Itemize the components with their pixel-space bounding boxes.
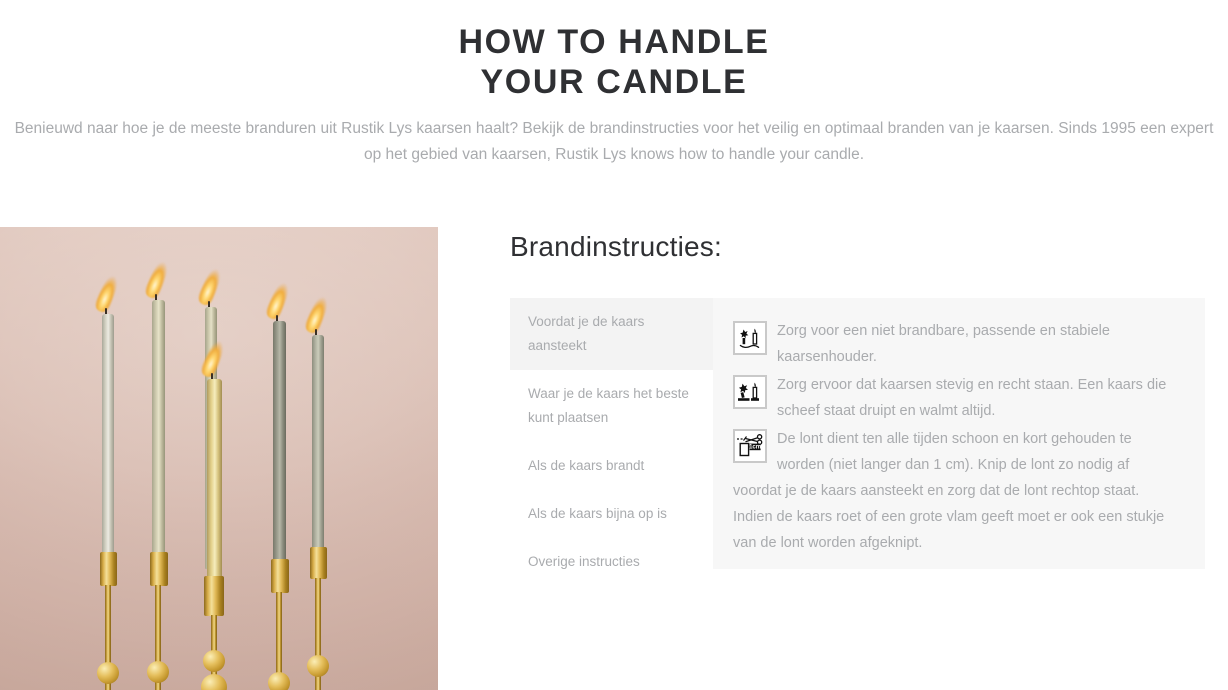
instruction-item: Zorg voor een niet brandbare, passende e… — [733, 318, 1181, 370]
tab-waar-je-de-kaars-het-beste-kunt-plaatsen[interactable]: Waar je de kaars het beste kunt plaatsen — [510, 370, 713, 442]
instruction-text: De lont dient ten alle tijden schoon en … — [733, 426, 1181, 556]
brass-ball — [203, 650, 225, 672]
tab-list: Voordat je de kaars aansteekt Waar je de… — [510, 298, 713, 569]
candle-taper — [312, 335, 324, 549]
tab-als-de-kaars-bijna-op-is[interactable]: Als de kaars bijna op is — [510, 490, 713, 538]
page-title-line-1: HOW TO HANDLE — [0, 22, 1228, 62]
candle-taper — [207, 379, 222, 578]
tab-panel-content: Zorg voor een niet brandbare, passende e… — [713, 298, 1205, 569]
brass-ball — [268, 672, 290, 690]
instruction-item: 1cm De lont dient ten alle tijden schoon… — [733, 426, 1181, 556]
candle-upright-icon — [733, 375, 767, 409]
brass-cup — [100, 552, 117, 586]
icon-label: 1cm — [749, 445, 761, 451]
tab-overige-instructies[interactable]: Overige instructies — [510, 538, 713, 586]
brass-cup — [310, 547, 327, 579]
brass-ball — [307, 655, 329, 677]
candle-taper — [273, 321, 286, 561]
content-row: Brandinstructies: Voordat je de kaars aa… — [0, 227, 1228, 690]
candle-photo — [0, 227, 438, 690]
instructions-column: Brandinstructies: Voordat je de kaars aa… — [510, 227, 1205, 264]
candle-holder-icon — [733, 321, 767, 355]
instruction-item: Zorg ervoor dat kaarsen stevig en recht … — [733, 372, 1181, 424]
trim-wick-scissors-icon: 1cm — [733, 429, 767, 463]
page-title-line-2: YOUR CANDLE — [0, 62, 1228, 102]
instruction-text: Zorg voor een niet brandbare, passende e… — [733, 318, 1181, 370]
candle-taper — [152, 300, 165, 554]
instructions-panel: Voordat je de kaars aansteekt Waar je de… — [510, 298, 1205, 569]
page-title: HOW TO HANDLE YOUR CANDLE — [0, 0, 1228, 102]
tab-voordat-je-de-kaars-aansteekt[interactable]: Voordat je de kaars aansteekt — [510, 298, 713, 370]
page-root: HOW TO HANDLE YOUR CANDLE Benieuwd naar … — [0, 0, 1228, 690]
brass-ball — [97, 662, 119, 684]
section-title: Brandinstructies: — [510, 227, 1205, 264]
brass-cup — [204, 576, 224, 616]
tab-als-de-kaars-brandt[interactable]: Als de kaars brandt — [510, 442, 713, 490]
instruction-text: Zorg ervoor dat kaarsen stevig en recht … — [733, 372, 1181, 424]
candle-taper — [102, 314, 114, 554]
intro-paragraph: Benieuwd naar hoe je de meeste branduren… — [14, 102, 1214, 168]
brass-cup — [150, 552, 168, 586]
brass-ball — [147, 661, 169, 683]
brass-cup — [271, 559, 289, 593]
